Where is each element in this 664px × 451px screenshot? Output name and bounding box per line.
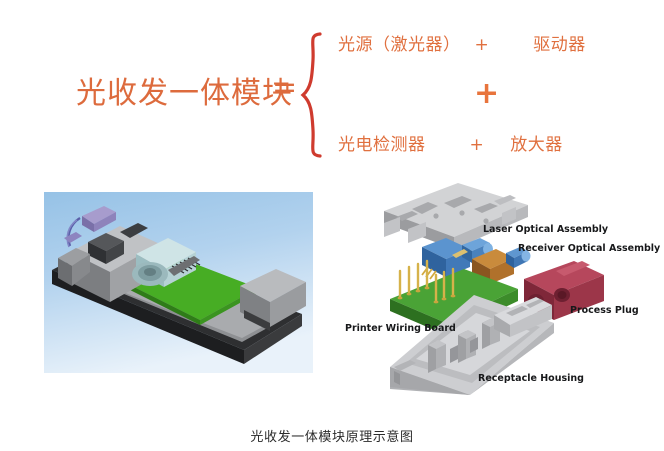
transceiver-3d-illustration [44, 192, 313, 373]
transmit-term-driver: 驱动器 [533, 35, 586, 55]
equation-block: 光收发一体模块 = 光源（激光器）+驱动器 + 光电检测器+放大器 [0, 0, 664, 180]
transmit-operator: + [475, 35, 490, 55]
transmit-term-source: 光源（激光器） [338, 35, 461, 55]
receive-operator: + [470, 135, 485, 155]
curly-brace-icon [298, 30, 332, 160]
exploded-view-illustration [366, 183, 664, 401]
equation-line-transmit: 光源（激光器）+驱动器 [338, 30, 586, 55]
label-laser-optical-assembly: Laser Optical Assembly [483, 224, 608, 235]
figure-caption: 光收发一体模块原理示意图 [0, 426, 664, 445]
equation-line-receive: 光电检测器+放大器 [338, 130, 563, 155]
middle-plus-sign: + [474, 76, 499, 111]
receive-term-detector: 光电检测器 [338, 135, 426, 155]
label-receiver-optical-assembly: Receiver Optical Assembly [518, 243, 660, 254]
equation-title: 光收发一体模块 [76, 68, 293, 112]
label-receptacle-housing: Receptacle Housing [478, 373, 584, 384]
equals-sign: = [272, 70, 297, 105]
label-process-plug: Process Plug [570, 305, 639, 316]
cad-render-panel [44, 192, 313, 373]
receive-term-amplifier: 放大器 [510, 135, 563, 155]
exploded-diagram-panel [366, 183, 664, 401]
label-printer-wiring-board: Printer Wiring Board [345, 323, 456, 334]
